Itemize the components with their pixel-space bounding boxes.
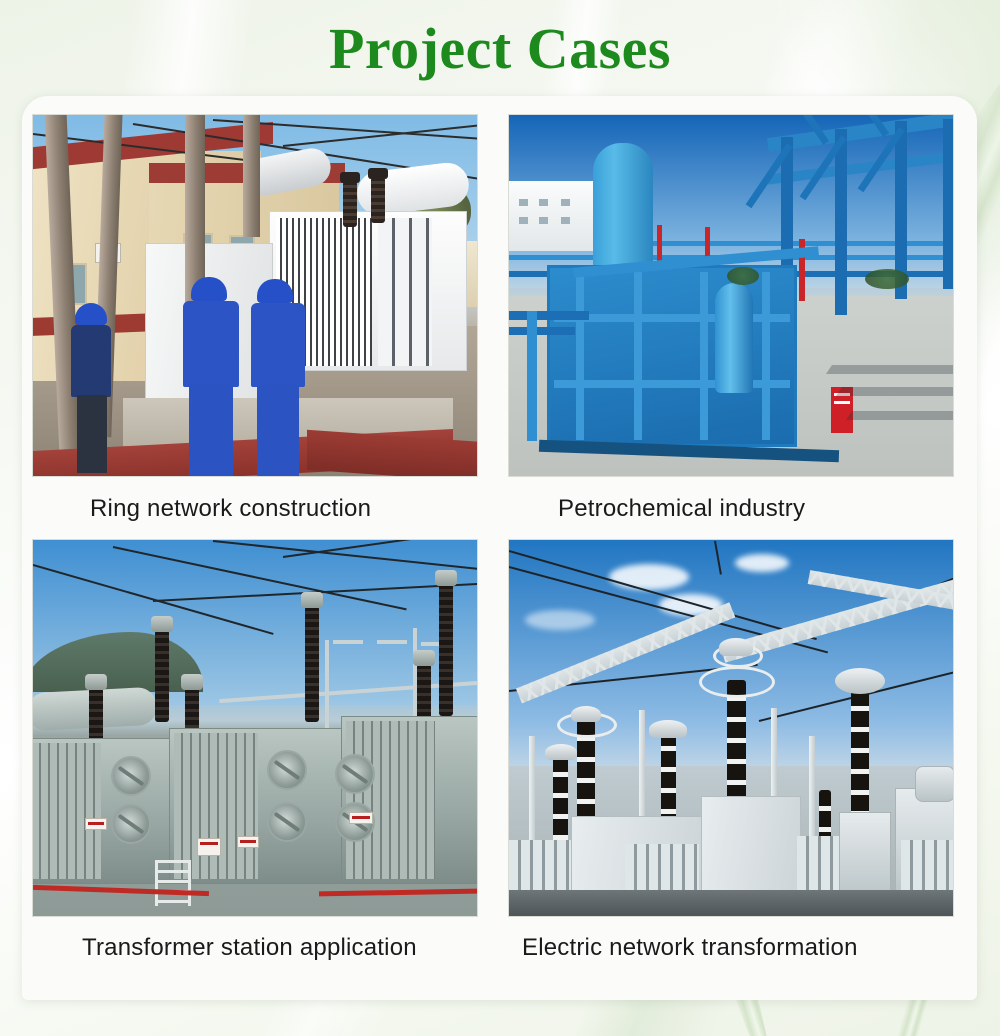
uniform-right (251, 303, 305, 387)
caption-transformer-station-application: Transformer station application (32, 917, 478, 962)
transformer-tank-3 (341, 716, 478, 884)
corona-cap-5 (835, 668, 885, 694)
left-pipe-2 (509, 327, 575, 335)
insulator-string-2 (377, 640, 407, 644)
process-skid (547, 265, 797, 447)
left-pipe-riser (527, 311, 537, 441)
ground-shadow-1 (826, 365, 954, 374)
skid-member-v3 (700, 272, 708, 440)
gallery-item-transformer-station-application[interactable]: Transformer station application (32, 539, 478, 962)
utility-pole-4 (243, 114, 260, 237)
hv-bushing-2 (305, 606, 319, 722)
caption-electric-network-transformation: Electric network transformation (508, 917, 954, 962)
page-title: Project Cases (0, 16, 1000, 83)
hv-bushing-1 (155, 630, 169, 722)
switchgear-unit-3 (915, 766, 954, 802)
ground-shadow-3 (846, 411, 954, 420)
cloud-4 (525, 610, 595, 630)
cloud-3 (735, 554, 789, 572)
skid-member-v4 (762, 272, 770, 440)
hv-bushing-6 (417, 664, 431, 722)
skid-member-v1 (576, 272, 584, 440)
cooling-fan-2 (111, 804, 151, 844)
ground (509, 890, 953, 916)
gallery-item-ring-network-construction[interactable]: Ring network construction (32, 114, 478, 539)
hv-bushing-1 (343, 181, 357, 227)
page-background: Project Cases (0, 0, 1000, 1036)
caption-ring-network-construction: Ring network construction (32, 477, 478, 539)
process-vessel (715, 283, 753, 393)
corona-ring-4 (699, 666, 775, 698)
transformer-tank-2 (169, 728, 345, 884)
acoustic-panel-right (701, 796, 801, 902)
gallery-item-electric-network-transformation[interactable]: Electric network transformation (508, 539, 954, 962)
gallery-item-petrochemical-industry[interactable]: Petrochemical industry (508, 114, 954, 539)
shrub-2 (865, 269, 909, 289)
photo-ring-network-construction[interactable] (32, 114, 478, 477)
radiator-bank-2 (174, 733, 258, 879)
gantry-post-1 (325, 640, 329, 730)
shrub-1 (727, 267, 759, 285)
hv-bushing-4 (89, 688, 103, 744)
warning-label-1 (85, 818, 107, 830)
hard-hat-right (257, 279, 293, 303)
rack-leg-4 (943, 119, 954, 289)
skid-member-h2 (554, 380, 790, 388)
cooling-fan-4 (267, 802, 307, 842)
safety-rail-right (319, 889, 478, 897)
rack-top-beam (767, 114, 954, 152)
hv-bushing-3 (439, 584, 453, 716)
white-building (509, 181, 601, 251)
uniform-center (183, 301, 239, 387)
trousers-center (189, 385, 233, 477)
corona-cap-1 (545, 744, 577, 760)
corona-cap-3 (649, 720, 687, 738)
photo-petrochemical-industry[interactable] (508, 114, 954, 477)
skid-member-v2 (634, 272, 642, 440)
left-pipe-1 (509, 311, 589, 320)
transformer-tank-1 (32, 738, 173, 884)
gallery-card: Ring network construction (22, 96, 977, 1000)
hv-bushing-2 (371, 177, 385, 223)
switchgear-unit-1 (839, 812, 891, 902)
gallery-grid: Ring network construction (32, 114, 967, 962)
cloud-1 (609, 564, 689, 590)
cooling-fan-5 (335, 754, 375, 794)
warning-label-3 (197, 838, 221, 856)
trousers-observer (77, 395, 107, 473)
rack-leg-2 (835, 129, 847, 315)
insulator-string-1 (333, 640, 363, 644)
photo-electric-network-transformation[interactable] (508, 539, 954, 917)
corona-cap-4 (719, 638, 753, 656)
radiator-bank-3 (346, 721, 435, 879)
warning-label-2 (237, 836, 259, 848)
corona-cap-2 (571, 706, 601, 722)
trousers-right (257, 385, 299, 477)
caption-petrochemical-industry: Petrochemical industry (508, 477, 954, 539)
skid-member-h1 (554, 314, 790, 322)
hard-hat-center (191, 277, 227, 301)
cooling-fan-3 (267, 750, 307, 790)
radiator-fins-right (378, 218, 432, 366)
ground-shadow-2 (836, 387, 954, 396)
uniform-observer (71, 325, 111, 397)
rack-second-beam (767, 151, 954, 184)
access-ladder (155, 860, 191, 906)
radiator-bank-1 (32, 743, 101, 879)
photo-transformer-station-application[interactable] (32, 539, 478, 917)
cooling-fan-1 (111, 756, 151, 796)
warning-label-4 (349, 812, 373, 824)
